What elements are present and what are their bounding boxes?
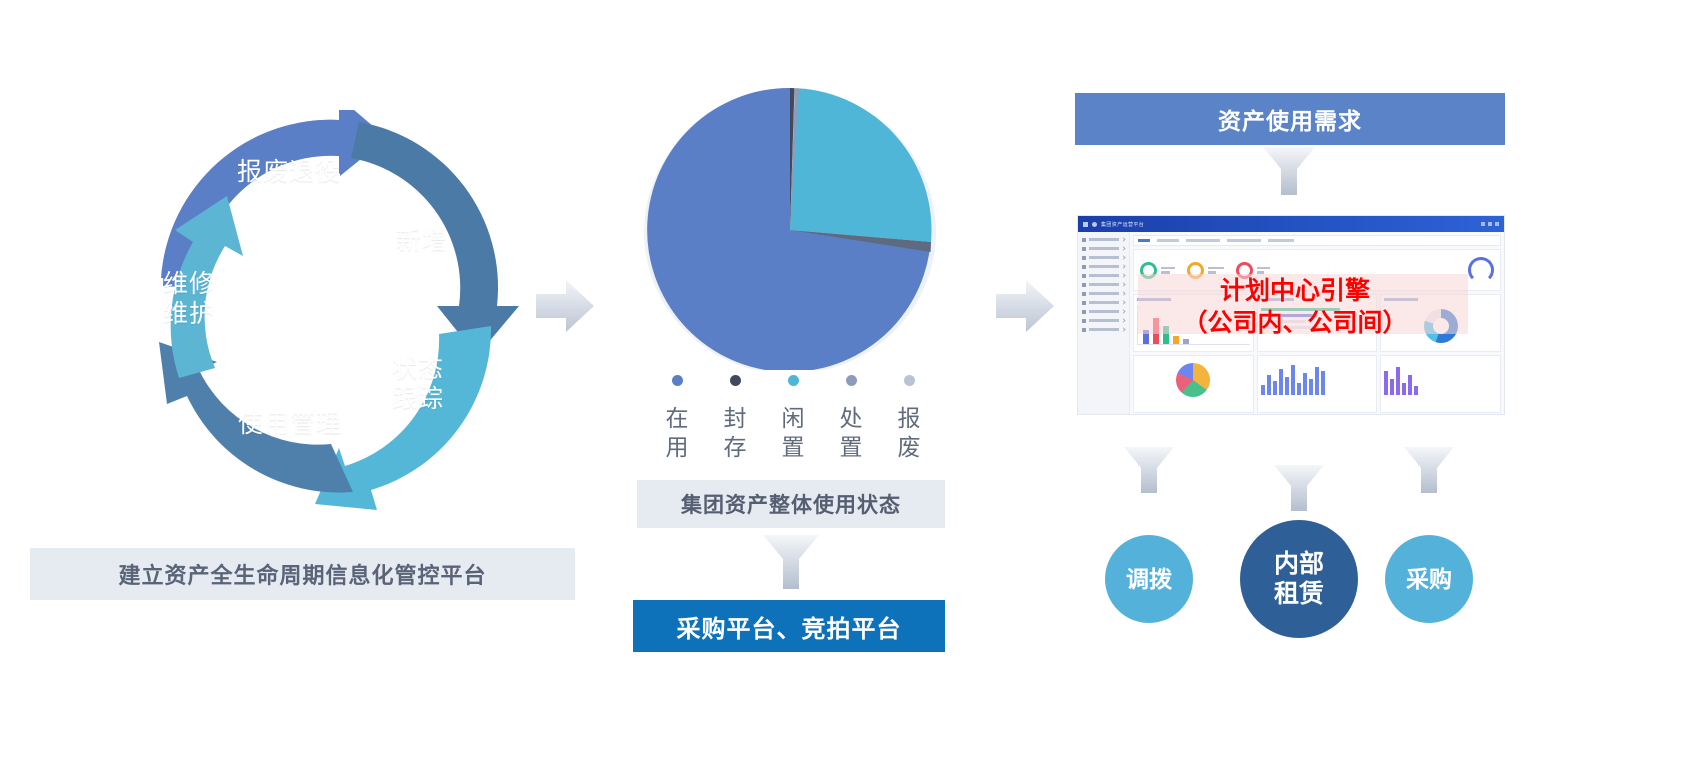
- progress-panel[interactable]: [1257, 294, 1378, 352]
- tab-report[interactable]: [1268, 239, 1294, 242]
- ring-segment-new[interactable]: [351, 122, 519, 356]
- circle-purchase[interactable]: 采购: [1385, 535, 1473, 623]
- donut-chart-icon: [1424, 309, 1458, 343]
- box-icon: [1082, 265, 1086, 269]
- legend-label-disposal: 处置: [840, 404, 863, 463]
- folder-icon: [1082, 256, 1086, 260]
- legend-item-idle[interactable]: 闲置: [771, 375, 815, 463]
- legend-dot-sealed: [730, 375, 741, 386]
- close-icon[interactable]: [1495, 222, 1499, 226]
- flow-arrow-down-purchase: [1404, 447, 1454, 498]
- sidebar-item[interactable]: [1078, 253, 1129, 262]
- legend-dot-idle: [788, 375, 799, 386]
- kpi-orange[interactable]: [1187, 262, 1224, 279]
- bar-chart-panel[interactable]: [1133, 294, 1254, 352]
- legend-item-disposal[interactable]: 处置: [829, 375, 873, 463]
- kpi-ring-icon: [1236, 262, 1253, 279]
- dashboard-kpis: [1133, 249, 1501, 291]
- legend-label-idle: 闲置: [782, 404, 805, 463]
- pie-column: 在用 封存 闲置 处置 报废 集团资产整体使用状态: [615, 80, 975, 680]
- asset-state-banner: 集团资产整体使用状态: [637, 480, 945, 528]
- dashboard-screenshot[interactable]: 集团资产运营平台: [1077, 215, 1505, 415]
- sidebar-item[interactable]: [1078, 298, 1129, 307]
- flow-column: 资产使用需求 集团资产运营平台: [1060, 85, 1660, 705]
- pie-legend: 在用 封存 闲置 处置 报废: [633, 375, 953, 463]
- sidebar-item[interactable]: [1078, 271, 1129, 280]
- flow-arrow-right-1: [536, 280, 594, 332]
- dashboard-body: [1078, 232, 1504, 415]
- lifecycle-ring-svg: [125, 110, 535, 510]
- maximize-icon[interactable]: [1488, 222, 1492, 226]
- legend-label-in-use: 在用: [666, 404, 689, 463]
- sidebar-item[interactable]: [1078, 280, 1129, 289]
- kpi-green[interactable]: [1140, 262, 1175, 279]
- bell-icon: [1082, 328, 1086, 332]
- donut-panel[interactable]: [1380, 294, 1501, 352]
- sidebar-item[interactable]: [1078, 235, 1129, 244]
- sidebar-item[interactable]: [1078, 325, 1129, 334]
- tab-plan[interactable]: [1186, 239, 1220, 242]
- column-chart: [1261, 359, 1374, 395]
- bar-chart: [1137, 305, 1250, 345]
- circle-internal-lease[interactable]: 内部租赁: [1240, 520, 1358, 638]
- dashboard-tabs[interactable]: [1133, 235, 1501, 246]
- legend-label-scrapped: 报废: [898, 404, 921, 463]
- tag-icon: [1082, 274, 1086, 278]
- kpi-red[interactable]: [1236, 262, 1270, 279]
- dashboard-sidebar[interactable]: [1078, 232, 1130, 415]
- lifecycle-column: 报废退役 新增 状态 跟踪 使用管理 维修 维护 建立资产全生命周期信息化管控平…: [30, 90, 590, 650]
- lifecycle-ring: 报废退役 新增 状态 跟踪 使用管理 维修 维护: [125, 110, 535, 510]
- kpi-ring-icon: [1187, 262, 1204, 279]
- pie-slice-idle[interactable]: [790, 88, 932, 242]
- diagram-canvas: 报废退役 新增 状态 跟踪 使用管理 维修 维护 建立资产全生命周期信息化管控平…: [0, 0, 1689, 780]
- home-icon: [1082, 247, 1086, 251]
- sidebar-item[interactable]: [1078, 289, 1129, 298]
- platform-banner: 采购平台、竞拍平台: [633, 600, 945, 652]
- circle-internal-lease-label: 内部租赁: [1274, 549, 1324, 610]
- gear-icon: [1082, 301, 1086, 305]
- legend-dot-in-use: [672, 375, 683, 386]
- legend-item-sealed[interactable]: 封存: [713, 375, 757, 463]
- panel-title: [1137, 298, 1171, 301]
- chart-icon: [1082, 292, 1086, 296]
- tab-assets[interactable]: [1157, 239, 1179, 242]
- demand-banner: 资产使用需求: [1075, 93, 1505, 145]
- app-menu-icon[interactable]: [1083, 222, 1088, 227]
- list-icon: [1082, 283, 1086, 287]
- sidebar-item[interactable]: [1078, 307, 1129, 316]
- legend-item-in-use[interactable]: 在用: [655, 375, 699, 463]
- pie-panel[interactable]: [1133, 355, 1254, 413]
- dashboard-main: [1130, 232, 1504, 415]
- column-chart-panel[interactable]: [1257, 355, 1378, 413]
- tab-overview[interactable]: [1138, 239, 1150, 242]
- pie-chart-icon: [1176, 363, 1210, 397]
- sidebar-item[interactable]: [1078, 262, 1129, 271]
- app-logo-icon: [1092, 222, 1097, 227]
- flow-arrow-right-2: [996, 280, 1054, 332]
- doc-icon: [1082, 319, 1086, 323]
- circle-allocate[interactable]: 调拨: [1105, 535, 1193, 623]
- user-icon: [1082, 310, 1086, 314]
- panel-title: [1261, 298, 1295, 301]
- column-chart-panel-2[interactable]: [1380, 355, 1501, 413]
- circle-allocate-label: 调拨: [1126, 565, 1172, 593]
- grid-icon: [1082, 238, 1086, 242]
- window-controls[interactable]: [1481, 222, 1499, 226]
- dashboard-title: 集团资产运营平台: [1101, 221, 1144, 228]
- sidebar-item[interactable]: [1078, 316, 1129, 325]
- lifecycle-banner: 建立资产全生命周期信息化管控平台: [30, 548, 575, 600]
- column-chart-2: [1384, 359, 1497, 395]
- flow-arrow-down-pie: [763, 535, 819, 594]
- minimize-icon[interactable]: [1481, 222, 1485, 226]
- dashboard-charts: [1133, 294, 1501, 352]
- flow-arrow-down-lease: [1274, 465, 1324, 516]
- panel-title: [1384, 298, 1418, 301]
- flow-arrow-down-demand: [1263, 147, 1315, 200]
- legend-dot-disposal: [846, 375, 857, 386]
- tab-rental[interactable]: [1227, 239, 1261, 242]
- kpi-ring-icon: [1140, 262, 1157, 279]
- dashboard-titlebar: 集团资产运营平台: [1078, 216, 1504, 232]
- circle-purchase-label: 采购: [1406, 565, 1452, 593]
- legend-item-scrapped[interactable]: 报废: [887, 375, 931, 463]
- dashboard-charts-lower: [1133, 355, 1501, 413]
- asset-status-pie-chart: [625, 80, 955, 370]
- legend-label-sealed: 封存: [724, 404, 747, 463]
- legend-dot-scrapped: [904, 375, 915, 386]
- flow-arrow-down-allocate: [1124, 447, 1174, 498]
- gauge-chart-icon: [1468, 257, 1494, 283]
- progress-bars: [1261, 308, 1374, 329]
- sidebar-item[interactable]: [1078, 244, 1129, 253]
